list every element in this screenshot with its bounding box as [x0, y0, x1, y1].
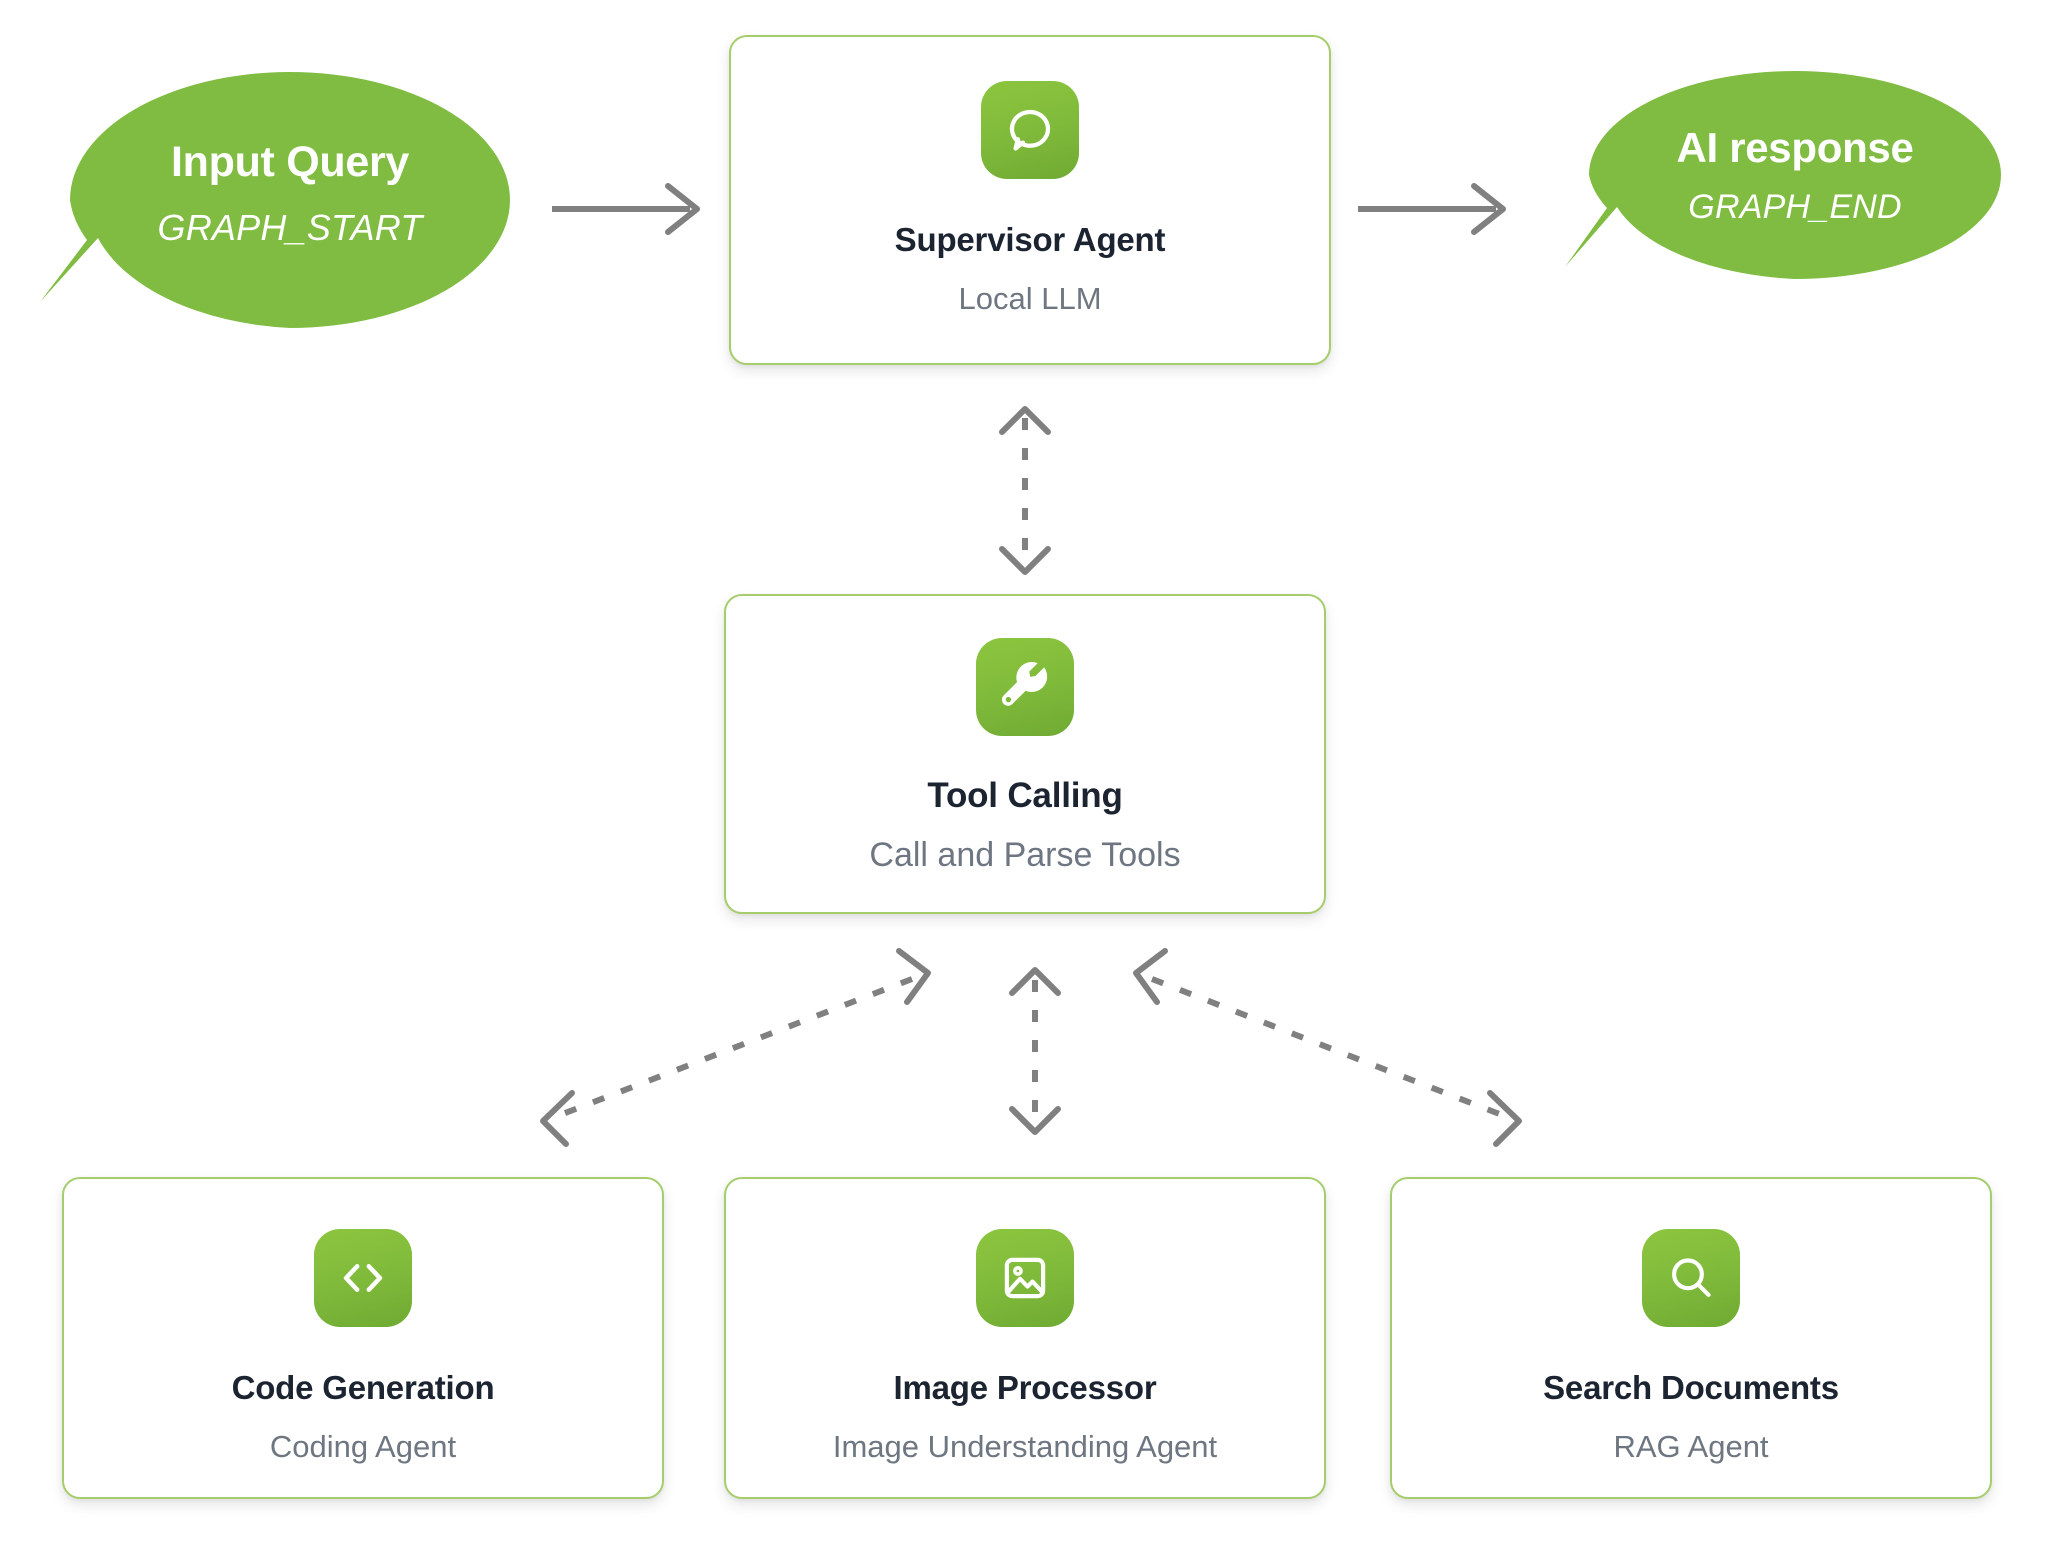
- card-subtitle: Image Understanding Agent: [833, 1429, 1217, 1465]
- search-icon: [1642, 1229, 1740, 1327]
- card-tool-calling[interactable]: Tool Calling Call and Parse Tools: [724, 594, 1326, 914]
- card-title: Supervisor Agent: [895, 221, 1166, 259]
- arrowhead-downright-icon: [1490, 1093, 1519, 1144]
- connector-input-to-supervisor: [552, 186, 697, 232]
- wrench-icon: [976, 638, 1074, 736]
- connector-supervisor-to-output: [1358, 186, 1503, 232]
- card-image-processor[interactable]: Image Processor Image Understanding Agen…: [724, 1177, 1326, 1499]
- card-title: Tool Calling: [927, 776, 1122, 816]
- card-supervisor-agent[interactable]: Supervisor Agent Local LLM: [729, 35, 1331, 365]
- card-subtitle: Local LLM: [958, 281, 1101, 317]
- image-icon: [976, 1229, 1074, 1327]
- arrowhead-upright-icon: [899, 951, 928, 1002]
- card-title: Code Generation: [232, 1369, 495, 1407]
- arrowhead-up-icon: [1002, 409, 1048, 432]
- arrowhead-upleft-icon: [1136, 951, 1165, 1002]
- connector-tool-to-code: [543, 951, 928, 1144]
- card-title: Search Documents: [1543, 1369, 1839, 1407]
- arrowhead-right-icon: [668, 186, 697, 232]
- speech-bubble-shape: [40, 40, 540, 370]
- chat-bubble-icon: [981, 81, 1079, 179]
- card-subtitle: RAG Agent: [1613, 1429, 1768, 1465]
- ai-response-bubble: AI response GRAPH_END: [1565, 55, 2025, 315]
- arrowhead-up-icon: [1012, 970, 1058, 993]
- card-code-generation[interactable]: Code Generation Coding Agent: [62, 1177, 664, 1499]
- card-subtitle: Call and Parse Tools: [869, 836, 1180, 875]
- connector-tool-to-search: [1136, 951, 1519, 1144]
- connector-supervisor-to-tool: [1002, 409, 1048, 572]
- card-subtitle: Coding Agent: [270, 1429, 456, 1465]
- arrowhead-downleft-icon: [543, 1093, 572, 1144]
- connector-tool-to-image: [1012, 970, 1058, 1132]
- arrowhead-down-icon: [1012, 1109, 1058, 1132]
- input-query-bubble: Input Query GRAPH_START: [40, 40, 540, 370]
- arrowhead-down-icon: [1002, 549, 1048, 572]
- speech-bubble-shape: [1565, 55, 2025, 315]
- code-brackets-icon: [314, 1229, 412, 1327]
- diagram-canvas: Input Query GRAPH_START AI response GRAP…: [0, 0, 2070, 1546]
- card-title: Image Processor: [894, 1369, 1157, 1407]
- arrowhead-right-icon: [1474, 186, 1503, 232]
- card-search-documents[interactable]: Search Documents RAG Agent: [1390, 1177, 1992, 1499]
